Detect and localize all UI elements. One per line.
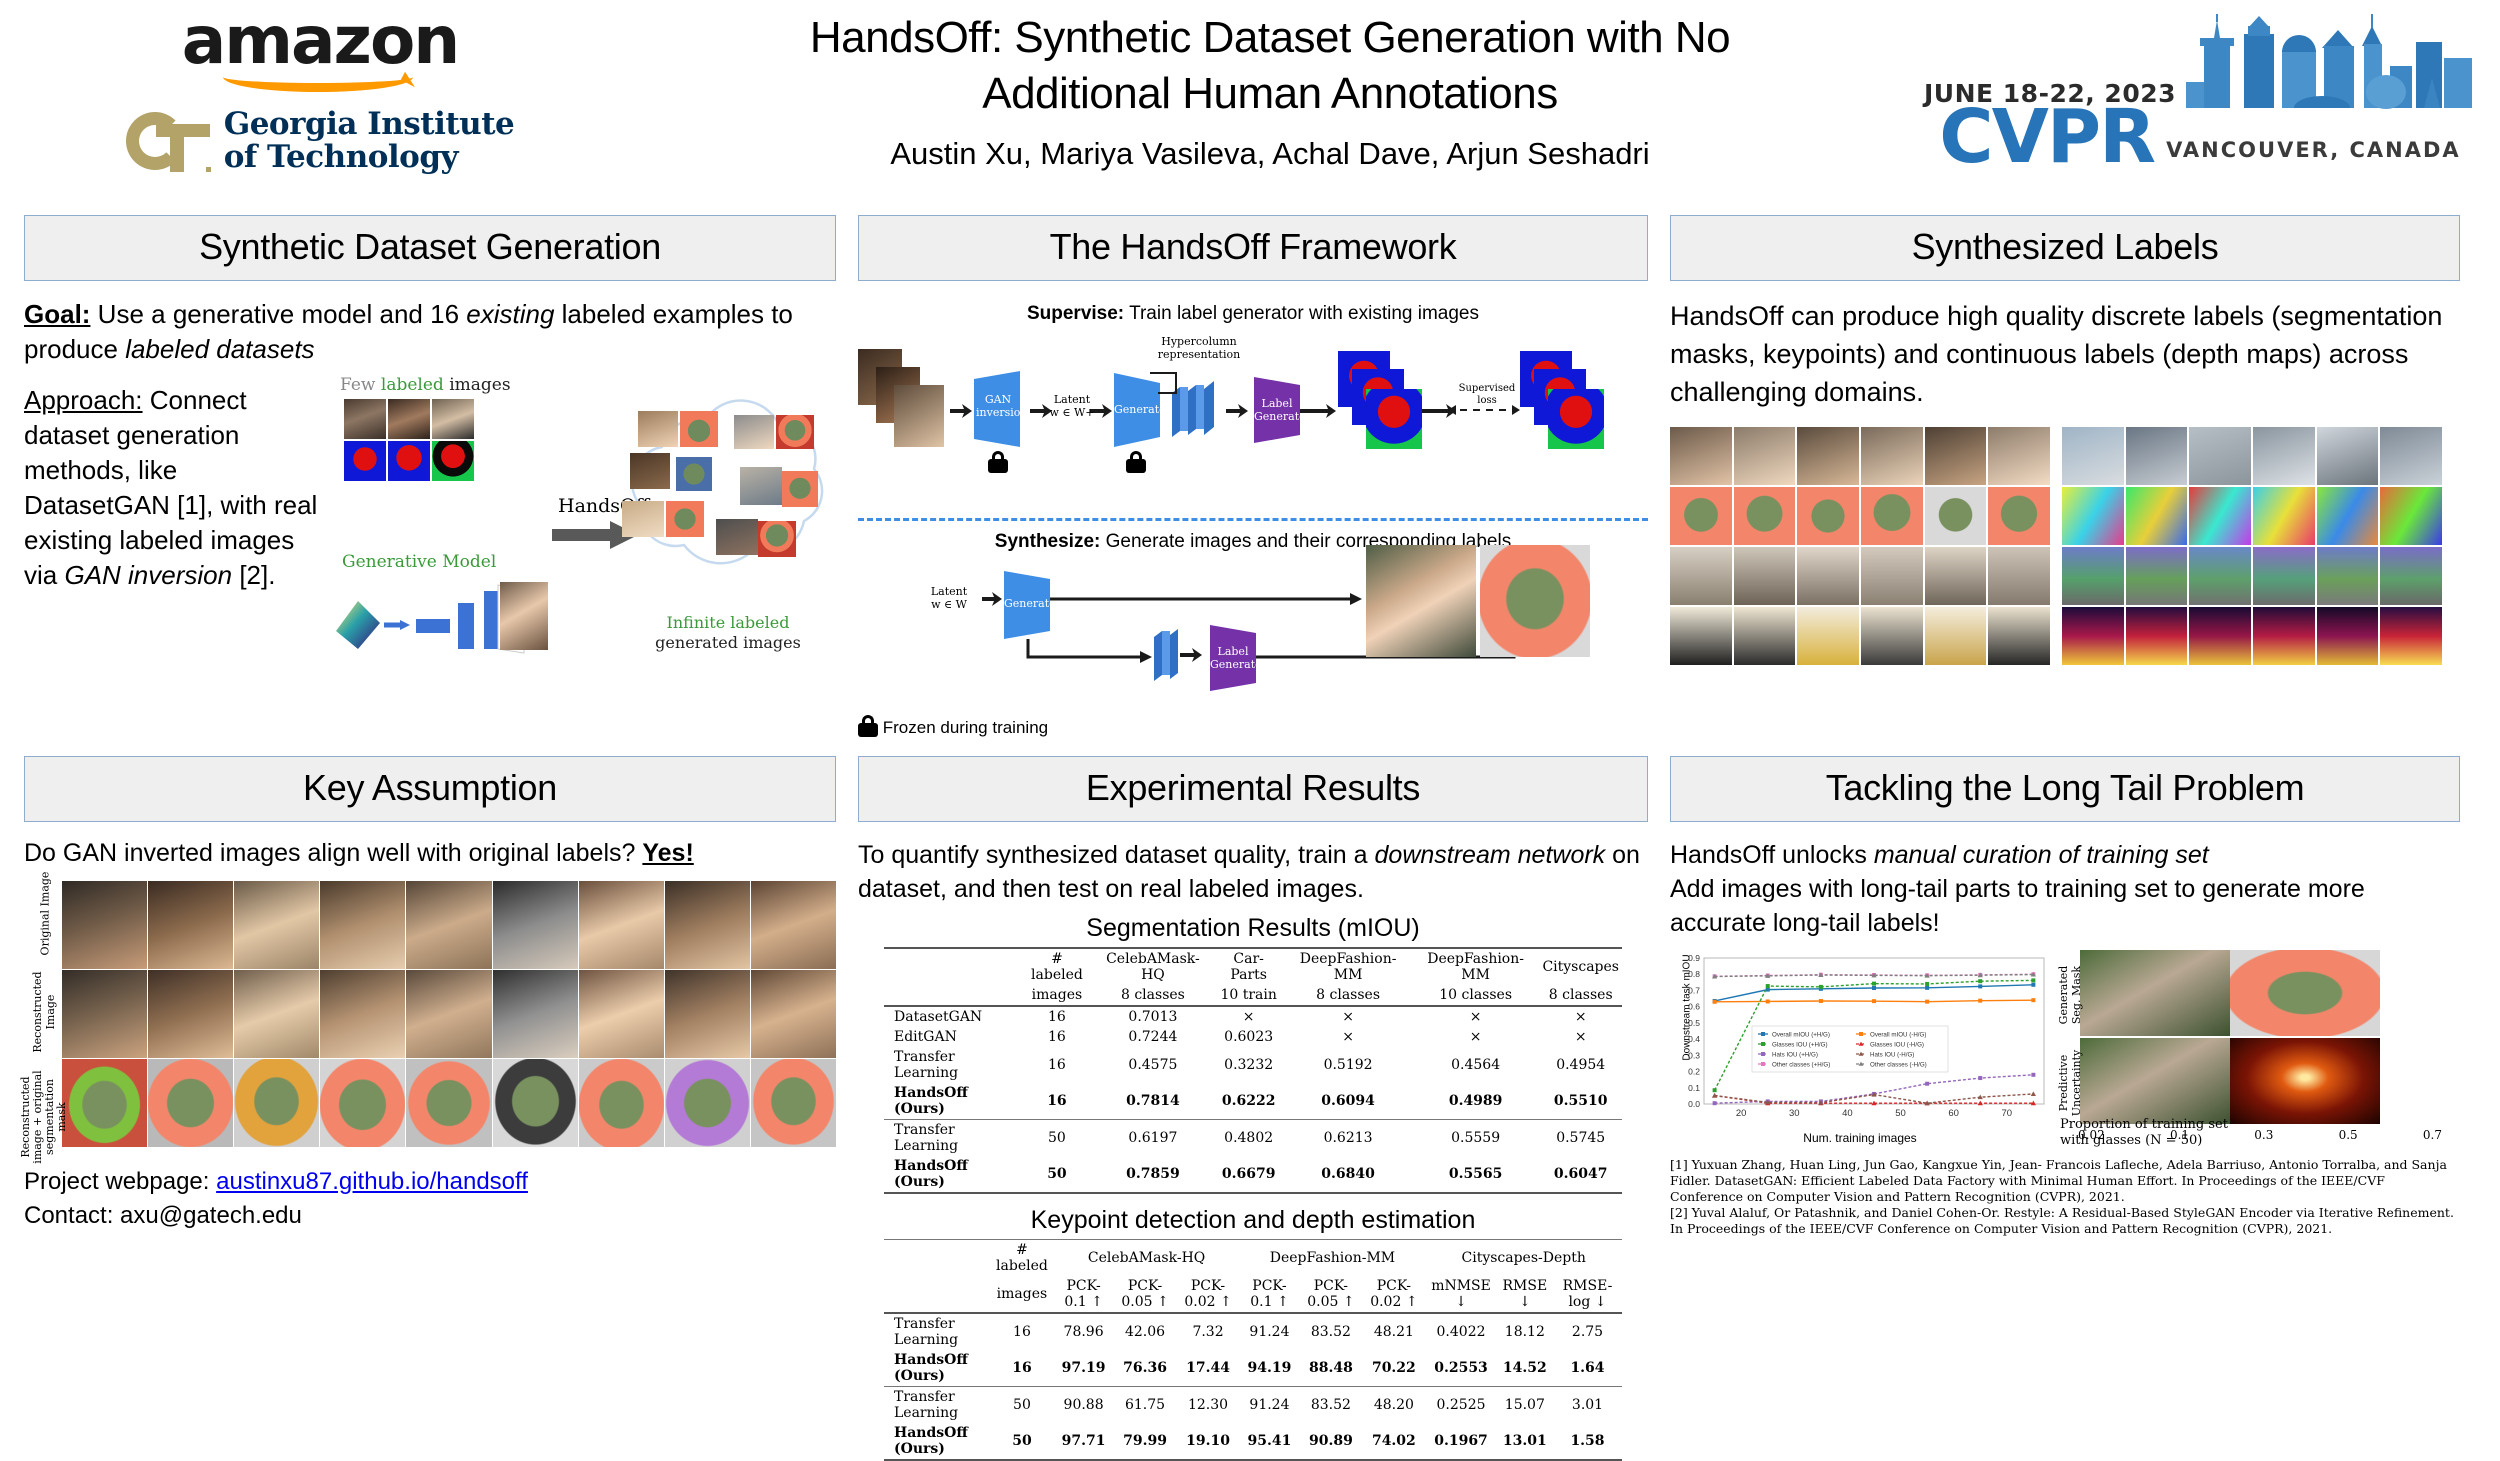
author-list: Austin Xu, Mariya Vasileva, Achal Dave, … [640,136,1900,172]
table-cell: 16 [1021,1006,1093,1027]
table-cell: 0.4802 [1213,1120,1284,1157]
goal-paragraph: Goal: Use a generative model and 16 exis… [24,297,836,367]
table-header-cell: RMSE-log ↓ [1553,1276,1622,1313]
table-cell: 0.7244 [1093,1027,1213,1047]
table-cell: 97.19 [1054,1350,1114,1387]
approach-label: Approach: [24,385,143,415]
table-cell: 0.6094 [1284,1083,1412,1120]
generator-label-synthesize: Generator [1004,597,1050,610]
table-cell-name: HandsOff (Ours) [884,1083,1021,1120]
table-cell: 12.30 [1177,1387,1240,1424]
svg-text:Other classes (-H/G): Other classes (-H/G) [1870,1062,1927,1069]
generator-label-supervise: Generator [1114,403,1160,416]
table-cell: 7.32 [1177,1313,1240,1350]
table-header-cell: DeepFashion-MM [1412,948,1540,985]
table-header-cell: PCK-0.02 ↑ [1362,1276,1425,1313]
table-cell: × [1539,1027,1622,1047]
section-title-synthesized: Synthesized Labels [1670,215,2460,281]
svg-text:70: 70 [2002,1108,2013,1119]
table-cell-name: HandsOff (Ours) [884,1350,990,1387]
segmentation-table-title: Segmentation Results (mIOU) [884,914,1622,943]
table-header-cell: PCK-0.1 ↑ [1054,1276,1114,1313]
generated-segmentation-mask [1480,545,1590,657]
section-title-synthetic: Synthetic Dataset Generation [24,215,836,281]
table-cell: 95.41 [1240,1423,1300,1460]
table-cell: 16 [1021,1027,1093,1047]
table-header-cell: PCK-0.05 ↑ [1114,1276,1177,1313]
poster-body: Synthetic Dataset Generation Goal: Use a… [0,215,2500,1461]
table-cell: 0.4989 [1412,1083,1540,1120]
footer-contact-block: Project webpage: austinxu87.github.io/ha… [24,1165,836,1233]
svg-text:Glasses IOU (+H/G): Glasses IOU (+H/G) [1772,1042,1828,1049]
goal-label: Goal: [24,299,90,329]
cvpr-city: VANCOUVER, CANADA [2166,138,2461,172]
table-cell: 97.71 [1054,1423,1114,1460]
project-webpage-line: Project webpage: austinxu87.github.io/ha… [24,1165,836,1199]
panel-label-predictive-uncertainty: Predictive Uncertainty [2057,1041,2083,1125]
svg-text:20: 20 [1736,1108,1747,1119]
table-cell: 0.6023 [1213,1027,1284,1047]
table-row: Transfer Learning5090.8861.7512.3091.248… [884,1387,1622,1424]
table-header-group [884,1240,990,1277]
cvpr-wordmark: CVPR [1939,102,2154,172]
longtail-photo-2 [2080,1038,2230,1124]
row-label-reconstructed: Reconstructed Image [31,962,57,1062]
poster-row-bottom: Key Assumption Do GAN inverted images al… [0,756,2500,1461]
longtail-line-chart: 0.00.10.20.30.40.50.60.70.80.92030405060… [1670,950,2050,1145]
table-cell: × [1412,1006,1540,1027]
table-cell: × [1284,1027,1412,1047]
table-header-cell: PCK-0.1 ↑ [1240,1276,1300,1313]
section-title-framework: The HandsOff Framework [858,215,1648,281]
panel-row-1: Generated Seg. Mask [2060,950,2460,1036]
table-header-cell: images [990,1276,1053,1313]
row-labels: Original Image Reconstructed Image Recon… [24,881,62,1147]
table-row: HandsOff (Ours)500.78590.66790.68400.556… [884,1156,1622,1193]
table-cell-name: Transfer Learning [884,1387,990,1424]
section-synthesized-labels: Synthesized Labels HandsOff can produce … [1670,215,2460,738]
svg-text:Hats IOU (-H/G): Hats IOU (-H/G) [1870,1052,1914,1059]
table-header-group: DeepFashion-MM [1240,1240,1426,1277]
longtail-photo-1 [2080,950,2230,1036]
table-cell-name: HandsOff (Ours) [884,1423,990,1460]
chart-ylabel: Downstream task mIOU [1682,933,1693,1083]
table-cell: 88.48 [1299,1350,1362,1387]
table-cell-name: Transfer Learning [884,1313,990,1350]
panel-label-1-wrap: Generated Seg. Mask [2060,950,2080,1036]
table-cell: 14.52 [1497,1350,1553,1387]
table-cell: 1.58 [1553,1423,1622,1460]
goal-italic-labeled-datasets: labeled datasets [125,334,314,364]
row-label-original: Original Image [39,871,52,957]
table-cell: 83.52 [1299,1313,1362,1350]
table-header-group: CelebAMask-HQ [1054,1240,1240,1277]
proportion-caption: Proportion of training set with glasses … [2060,1117,2228,1149]
table-cell: 16 [1021,1083,1093,1120]
table-cell-name: Transfer Learning [884,1047,1021,1083]
svg-text:50: 50 [1895,1108,1906,1119]
table-cell: 79.99 [1114,1423,1177,1460]
svg-text:Hats IOU (+H/G): Hats IOU (+H/G) [1772,1052,1818,1059]
poster-header: amazon Georgia Institute of Technology H… [0,0,2500,215]
longtail-figure-row: 0.00.10.20.30.40.50.60.70.80.92030405060… [1670,950,2460,1145]
assumption-question: Do GAN inverted images align well with o… [24,836,836,871]
label-generator-label-supervise: Label Generator [1254,397,1300,423]
svg-text:Other classes (+H/G): Other classes (+H/G) [1772,1062,1830,1069]
table-cell: 15.07 [1497,1387,1553,1424]
keypoint-results-table: # labeledCelebAMask-HQDeepFashion-MMCity… [884,1239,1622,1461]
table-cell: × [1284,1006,1412,1027]
table-header-cell: PCK-0.02 ↑ [1177,1276,1240,1313]
latent-label-supervise: Latent w ∈ W+ [1044,393,1100,419]
goal-text-a: Use a generative model and 16 [90,299,466,329]
table-row: Transfer Learning1678.9642.067.3291.2483… [884,1313,1622,1350]
table-header-cell [884,1276,990,1313]
figure-gan-inversion-grid: Original Image Reconstructed Image Recon… [24,881,836,1147]
longtail-uncertainty-map [2230,1038,2380,1124]
table-row: HandsOff (Ours)1697.1976.3617.4494.1988.… [884,1350,1622,1387]
proportion-value-2: 0.3 [2254,1128,2273,1142]
svg-text:0.0: 0.0 [1688,1099,1700,1109]
approach-italic-gan-inversion: GAN inversion [64,560,232,590]
table-header-group: Cityscapes-Depth [1425,1240,1622,1277]
table-cell: 2.75 [1553,1313,1622,1350]
table-cell: 74.02 [1362,1423,1425,1460]
approach-text-b: [2]. [232,560,275,590]
table-cell: 91.24 [1240,1387,1300,1424]
table-cell: 48.20 [1362,1387,1425,1424]
gt-wordmark: Georgia Institute of Technology [224,108,515,174]
table-cell: 0.6213 [1284,1120,1412,1157]
table-cell: 76.36 [1114,1350,1177,1387]
georgia-tech-logo: Georgia Institute of Technology [126,108,515,174]
lock-icon-generator [1126,451,1146,473]
segmentation-results-table: # labeledCelebAMask-HQCar-PartsDeepFashi… [884,947,1622,1194]
figure-synthesize-pipeline: Latent w ∈ W Generator Label Generator [858,553,1648,713]
table-cell: 50 [1021,1156,1093,1193]
figure-caption-few-labeled: Few labeled images [340,375,511,395]
table-cell: 13.01 [1497,1423,1553,1460]
table-row: Transfer Learning160.45750.32320.51920.4… [884,1047,1622,1083]
framework-divider [858,518,1648,521]
table-cell: 0.1967 [1425,1423,1496,1460]
svg-text:60: 60 [1948,1108,1959,1119]
section-title-experimental: Experimental Results [858,756,1648,822]
table-header-cell: DeepFashion-MM [1284,948,1412,985]
table-cell: 78.96 [1054,1313,1114,1350]
experimental-intro: To quantify synthesized dataset quality,… [858,838,1648,906]
table-cell-name: DatasetGAN [884,1006,1021,1027]
table-cell: 50 [990,1423,1053,1460]
figure-caption-infinite: Infinite labeled generated images [648,613,808,653]
section-key-assumption: Key Assumption Do GAN inverted images al… [24,756,836,1461]
table-cell: 0.4564 [1412,1047,1540,1083]
table-row: Transfer Learning500.61970.48020.62130.5… [884,1120,1622,1157]
gan-inversion-label: GAN inversion [976,393,1020,419]
vancouver-skyline-icon [2186,12,2476,112]
section-title-long-tail: Tackling the Long Tail Problem [1670,756,2460,822]
keypoint-table-title: Keypoint detection and depth estimation [884,1206,1622,1235]
generated-face-image [1366,545,1476,657]
frozen-note: Frozen during training [858,715,1648,738]
panel-label-generated-seg-mask: Generated Seg. Mask [2057,953,2083,1037]
poster-row-top: Synthetic Dataset Generation Goal: Use a… [0,215,2500,738]
poster-title-line1: HandsOff: Synthetic Dataset Generation w… [640,10,1900,66]
table-cell: 0.7814 [1093,1083,1213,1120]
amazon-logo: amazon [175,8,465,86]
svg-text:Overall mIOU (+H/G): Overall mIOU (+H/G) [1772,1032,1830,1039]
mosaic-cars-and-scenes [2062,427,2442,665]
table-cell: × [1213,1006,1284,1027]
table-cell-name: Transfer Learning [884,1120,1021,1157]
table-cell: 0.5559 [1412,1120,1540,1157]
synthesized-paragraph: HandsOff can produce high quality discre… [1670,297,2460,411]
table-header-cell: 8 classes [1093,985,1213,1006]
contact-line: Contact: axu@gatech.edu [24,1199,836,1233]
reference-list: [1] Yuxuan Zhang, Huan Ling, Jun Gao, Ka… [1670,1157,2460,1237]
table-cell-name: HandsOff (Ours) [884,1156,1021,1193]
table-header-cell: Cityscapes [1539,948,1622,985]
lock-icon-legend [858,715,878,737]
table-cell: 16 [1021,1047,1093,1083]
longtail-line1: HandsOff unlocks manual curation of trai… [1670,838,2460,872]
table-cell: 3.01 [1553,1387,1622,1424]
gt-wordmark-line1: Georgia Institute [224,108,515,141]
table-cell: 61.75 [1114,1387,1177,1424]
longtail-qualitative-panels: Generated Seg. Mask Predictive Uncertain… [2060,950,2460,1145]
table-header-group: # labeled [990,1240,1053,1277]
longtail-paragraph: HandsOff unlocks manual curation of trai… [1670,838,2460,940]
table-cell: 0.3232 [1213,1047,1284,1083]
table-cell: 50 [990,1387,1053,1424]
generated-face-thumb [500,582,548,650]
table-cell: 16 [990,1313,1053,1350]
panel-label-2-wrap: Predictive Uncertainty [2060,1038,2080,1124]
table-cell: 0.6047 [1539,1156,1622,1193]
table-header-cell: 10 classes [1412,985,1540,1006]
amazon-smile-icon [223,62,413,92]
table-header-cell: 8 classes [1284,985,1412,1006]
table-header-cell: # labeled [1021,948,1093,985]
svg-text:30: 30 [1789,1108,1800,1119]
section-long-tail: Tackling the Long Tail Problem HandsOff … [1670,756,2460,1461]
table-cell: 0.4575 [1093,1047,1213,1083]
table-cell: 0.7859 [1093,1156,1213,1193]
synthesized-label-mosaics [1670,427,2460,665]
assumption-answer: Yes! [642,839,693,867]
table-cell: 94.19 [1240,1350,1300,1387]
table-cell: × [1412,1027,1540,1047]
section-experimental-results: Experimental Results To quantify synthes… [858,756,1648,1461]
table-cell: 0.5745 [1539,1120,1622,1157]
reference-item: [1] Yuxuan Zhang, Huan Ling, Jun Gao, Ka… [1670,1157,2460,1205]
section-title-key-assumption: Key Assumption [24,756,836,822]
title-block: HandsOff: Synthetic Dataset Generation w… [640,0,1900,172]
table-row: EditGAN160.72440.6023××× [884,1027,1622,1047]
table-cell: × [1539,1006,1622,1027]
table-row: HandsOff (Ours)5097.7179.9919.1095.4190.… [884,1423,1622,1460]
table-cell: 42.06 [1114,1313,1177,1350]
table-cell-name: EditGAN [884,1027,1021,1047]
supervised-loss-label: Supervised loss [1458,383,1516,407]
gan-inversion-tiles [62,881,836,1147]
gt-monogram-icon [126,110,212,172]
chart-svg: 0.00.10.20.30.40.50.60.70.80.92030405060… [1670,950,2050,1130]
figure-caption-generative-model: Generative Model [342,552,496,572]
table-row: DatasetGAN160.7013×××× [884,1006,1622,1027]
label-generator-label-synthesize: Label Generator [1210,645,1256,671]
table-header-cell: Car-Parts [1213,948,1284,985]
longtail-mask-1 [2230,950,2380,1036]
section-handsoff-framework: The HandsOff Framework Supervise: Train … [858,215,1648,738]
panel-row-2: Predictive Uncertainty [2060,1038,2460,1124]
cvpr-logo: JUNE 18-22, 2023 [1900,0,2500,172]
figure-synthetic-overview: Few labeled images Generative Model [330,367,836,667]
table-cell: 0.6840 [1284,1156,1412,1193]
table-cell: 0.5565 [1412,1156,1540,1193]
longtail-line2: Add images with long-tail parts to train… [1670,872,2460,940]
table-cell: 50 [1021,1120,1093,1157]
svg-text:Glasses IOU (-H/G): Glasses IOU (-H/G) [1870,1042,1924,1049]
mosaic-faces-and-people [1670,427,2050,665]
cloud-sample-grid [630,409,825,579]
table-cell: 0.7013 [1093,1006,1213,1027]
table-row: HandsOff (Ours)160.78140.62220.60940.498… [884,1083,1622,1120]
gt-wordmark-line2: of Technology [224,141,515,174]
latent-label-synthesize: Latent w ∈ W [918,585,980,611]
table-cell: 19.10 [1177,1423,1240,1460]
table-cell: 0.4954 [1539,1047,1622,1083]
table-cell: 0.4022 [1425,1313,1496,1350]
table-cell: 1.64 [1553,1350,1622,1387]
hypercolumn-label: Hypercolumn representation [1154,335,1244,361]
table-header-cell: CelebAMask-HQ [1093,948,1213,985]
table-cell: 18.12 [1497,1313,1553,1350]
table-cell: 17.44 [1177,1350,1240,1387]
table-cell: 0.5192 [1284,1047,1412,1083]
project-webpage-link[interactable]: austinxu87.github.io/handsoff [216,1168,528,1195]
table-cell: 16 [990,1350,1053,1387]
row-label-reconstructed-mask: Reconstructed image + original segmentat… [20,1063,68,1171]
table-cell: 90.89 [1299,1423,1362,1460]
table-header-cell: 8 classes [1539,985,1622,1006]
table-cell: 0.6222 [1213,1083,1284,1120]
table-cell: 0.5510 [1539,1083,1622,1120]
table-cell: 70.22 [1362,1350,1425,1387]
svg-text:40: 40 [1842,1108,1853,1119]
lock-icon-gan-inversion [988,451,1008,473]
svg-text:0.1: 0.1 [1688,1083,1700,1093]
table-cell: 0.2553 [1425,1350,1496,1387]
table-cell: 83.52 [1299,1387,1362,1424]
table-header-cell: 10 train [1213,985,1284,1006]
table-cell: 0.2525 [1425,1387,1496,1424]
chart-xlabel: Num. training images [1670,1131,2050,1145]
table-cell: 0.6197 [1093,1120,1213,1157]
table-header-cell: RMSE ↓ [1497,1276,1553,1313]
reference-item: [2] Yuval Alaluf, Or Patashnik, and Dani… [1670,1205,2460,1237]
section-synthetic-dataset-generation: Synthetic Dataset Generation Goal: Use a… [24,215,836,738]
labeled-example-grid [344,399,474,481]
segmentation-table-block: Segmentation Results (mIOU) # labeledCel… [858,914,1648,1461]
poster-title-line2: Additional Human Annotations [640,66,1900,122]
logo-group: amazon Georgia Institute of Technology [0,0,640,174]
svg-text:Overall mIOU (-H/G): Overall mIOU (-H/G) [1870,1032,1926,1039]
table-cell: 48.21 [1362,1313,1425,1350]
proportion-value-3: 0.5 [2339,1128,2358,1142]
goal-italic-existing: existing [466,299,554,329]
table-header-cell: mNMSE ↓ [1425,1276,1496,1313]
figure-supervise-pipeline: GAN inversion Latent w ∈ W+ Generator Hy… [858,331,1648,516]
table-header-cell [884,985,1021,1006]
approach-paragraph: Approach: Connect dataset generation met… [24,383,324,667]
table-header-cell: PCK-0.05 ↑ [1299,1276,1362,1313]
table-cell: 91.24 [1240,1313,1300,1350]
table-header-cell [884,948,1021,985]
supervise-caption: Supervise: Train label generator with ex… [858,303,1648,325]
table-cell: 90.88 [1054,1387,1114,1424]
table-header-cell: images [1021,985,1093,1006]
table-cell: 0.6679 [1213,1156,1284,1193]
proportion-value-4: 0.7 [2423,1128,2442,1142]
